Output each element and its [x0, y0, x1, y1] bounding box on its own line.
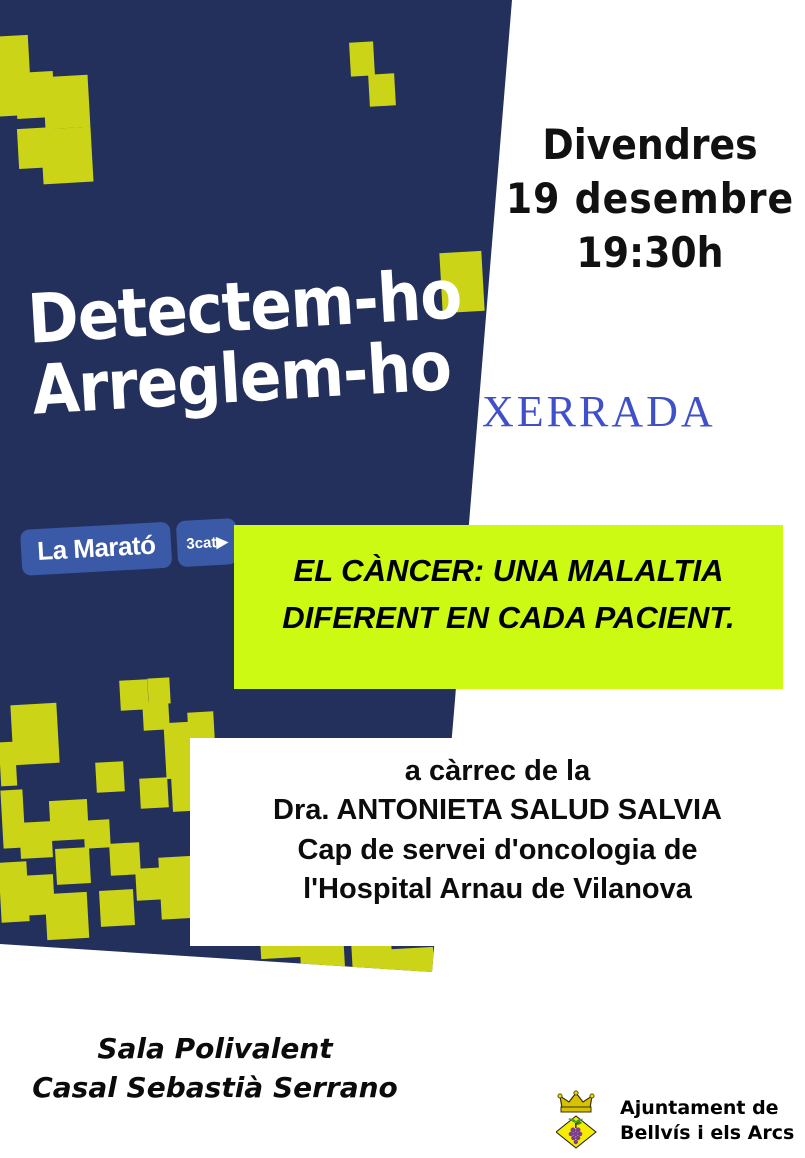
decor-square	[0, 742, 17, 787]
event-weekday: Divendres	[500, 118, 800, 172]
event-title-banner: EL CÀNCER: UNA MALALTIA DIFERENT EN CADA…	[234, 525, 783, 689]
decor-square	[187, 711, 215, 740]
event-type-label: XERRADA	[482, 386, 782, 437]
venue-block: Sala Polivalent Casal Sebastià Serrano	[0, 1030, 430, 1107]
la-marato-logo: La Marató 3cat▶	[20, 518, 238, 576]
event-title-line-2: DIFERENT EN CADA PACIENT.	[282, 594, 734, 641]
marato-pill: La Marató	[20, 522, 173, 576]
decor-square	[95, 761, 125, 793]
decor-square	[43, 75, 91, 129]
decor-square	[83, 819, 111, 848]
decor-square	[10, 703, 59, 765]
broadcaster-pill: 3cat▶	[176, 518, 238, 567]
decor-square	[99, 889, 135, 927]
crown-icon	[558, 1091, 594, 1112]
campaign-headline: Detectem-ho Arreglem-ho	[26, 262, 467, 425]
broadcaster-label: 3cat▶	[186, 532, 229, 552]
event-title-line-1: EL CÀNCER: UNA MALALTIA	[282, 547, 734, 594]
speaker-role-line-1: Cap de servei d'oncologia de	[190, 831, 805, 870]
event-date-block: Divendres 19 desembre 19:30h	[500, 118, 800, 279]
decor-square	[17, 127, 57, 169]
organizer-logo: Ajuntament de Bellvís i els Arcs	[556, 1090, 794, 1152]
event-date: 19 desembre	[500, 172, 800, 226]
event-time: 19:30h	[500, 226, 800, 280]
event-title-text: EL CÀNCER: UNA MALALTIA DIFERENT EN CADA…	[282, 547, 734, 641]
decor-square	[55, 847, 91, 885]
speaker-name: Dra. ANTONIETA SALUD SALVIA	[190, 791, 805, 830]
decor-square	[349, 41, 375, 76]
speaker-info-box: a càrrec de la Dra. ANTONIETA SALUD SALV…	[190, 738, 805, 946]
poster-root: Detectem-ho Arreglem-ho La Marató 3cat▶ …	[0, 0, 805, 1158]
marato-label: La Marató	[36, 529, 156, 567]
organizer-name: Ajuntament de Bellvís i els Arcs	[620, 1096, 794, 1146]
organizer-line-2: Bellvís i els Arcs	[620, 1121, 794, 1146]
decor-square	[139, 777, 169, 809]
speaker-role-line-2: l'Hospital Arnau de Vilanova	[190, 870, 805, 909]
decor-square	[0, 789, 25, 848]
decor-square	[391, 947, 435, 983]
venue-line-1: Sala Polivalent	[0, 1030, 430, 1069]
decor-square	[368, 73, 396, 106]
venue-line-2: Casal Sebastià Serrano	[0, 1069, 430, 1108]
coat-of-arms-icon	[556, 1090, 610, 1152]
speaker-intro: a càrrec de la	[190, 738, 805, 791]
decor-square	[45, 892, 90, 940]
organizer-line-1: Ajuntament de	[620, 1096, 794, 1121]
grape-shield-icon	[556, 1116, 596, 1148]
